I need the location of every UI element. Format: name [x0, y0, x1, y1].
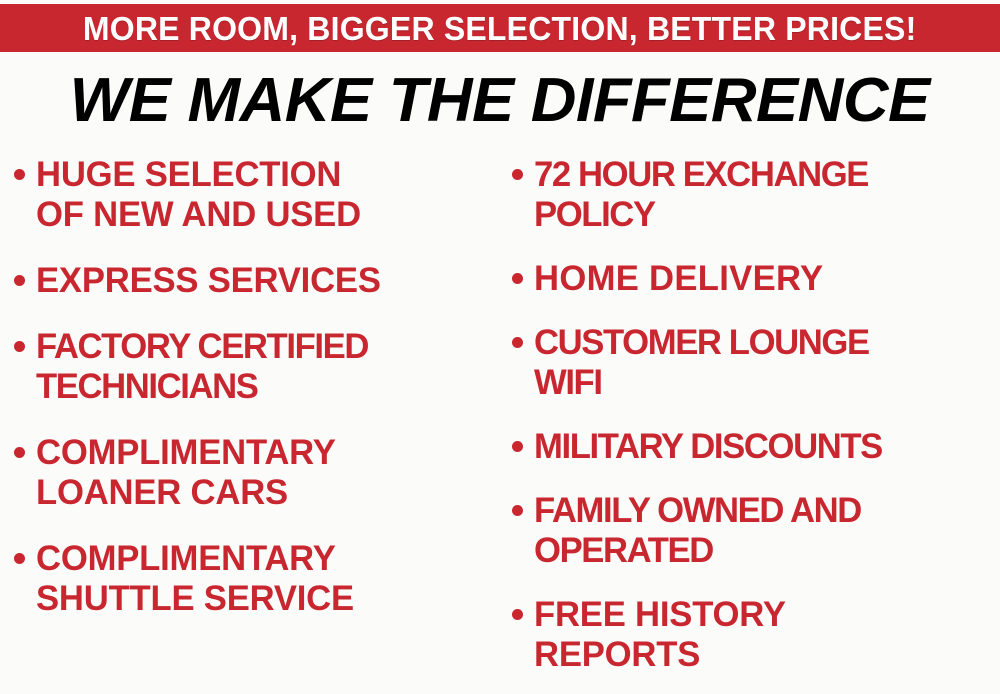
bullet-dot-icon — [14, 275, 25, 286]
bullet-dot-icon — [14, 553, 25, 564]
bullet-dot-icon — [14, 169, 25, 180]
list-item: FACTORY CERTIFIED TECHNICIANS — [14, 327, 500, 407]
list-item-label: FACTORY CERTIFIED TECHNICIANS — [36, 327, 368, 407]
bullet-dot-icon — [512, 505, 523, 516]
list-item-label: FREE HISTORY REPORTS — [534, 595, 786, 675]
list-item: EXPRESS SERVICES — [14, 261, 500, 301]
list-item-label: MILITARY DISCOUNTS — [534, 427, 882, 467]
list-item-label: COMPLIMENTARY SHUTTLE SERVICE — [36, 539, 354, 619]
list-item: 72 HOUR EXCHANGE POLICY — [512, 155, 1000, 235]
list-item-label: HOME DELIVERY — [534, 259, 823, 299]
list-item-label: CUSTOMER LOUNGE WIFI — [534, 323, 869, 403]
list-item-label: FAMILY OWNED AND OPERATED — [534, 491, 861, 571]
benefits-columns: HUGE SELECTION OF NEW AND USED EXPRESS S… — [0, 155, 1000, 694]
benefits-column-right: 72 HOUR EXCHANGE POLICY HOME DELIVERY CU… — [512, 155, 1000, 694]
list-item: COMPLIMENTARY SHUTTLE SERVICE — [14, 539, 500, 619]
bullet-dot-icon — [14, 341, 25, 352]
benefits-column-left: HUGE SELECTION OF NEW AND USED EXPRESS S… — [14, 155, 500, 645]
bullet-dot-icon — [512, 273, 523, 284]
list-item: COMPLIMENTARY LOANER CARS — [14, 433, 500, 513]
headline-container: WE MAKE THE DIFFERENCE — [0, 62, 1000, 140]
promo-ribbon: MORE ROOM, BIGGER SELECTION, BETTER PRIC… — [0, 4, 1000, 52]
bullet-dot-icon — [512, 337, 523, 348]
bullet-dot-icon — [14, 447, 25, 458]
list-item-label: 72 HOUR EXCHANGE POLICY — [534, 155, 868, 235]
bullet-dot-icon — [512, 609, 523, 620]
list-item: FREE HISTORY REPORTS — [512, 595, 1000, 675]
list-item: CUSTOMER LOUNGE WIFI — [512, 323, 1000, 403]
list-item: MILITARY DISCOUNTS — [512, 427, 1000, 467]
list-item: HOME DELIVERY — [512, 259, 1000, 299]
list-item-label: EXPRESS SERVICES — [36, 261, 381, 301]
bullet-dot-icon — [512, 169, 523, 180]
list-item: FAMILY OWNED AND OPERATED — [512, 491, 1000, 571]
page-title: WE MAKE THE DIFFERENCE — [70, 70, 930, 132]
bullet-dot-icon — [512, 441, 523, 452]
promo-ribbon-text: MORE ROOM, BIGGER SELECTION, BETTER PRIC… — [83, 12, 917, 45]
list-item: HUGE SELECTION OF NEW AND USED — [14, 155, 500, 235]
list-item-label: HUGE SELECTION OF NEW AND USED — [36, 155, 361, 235]
dealership-benefits-banner: MORE ROOM, BIGGER SELECTION, BETTER PRIC… — [0, 0, 1000, 694]
list-item-label: COMPLIMENTARY LOANER CARS — [36, 433, 336, 513]
